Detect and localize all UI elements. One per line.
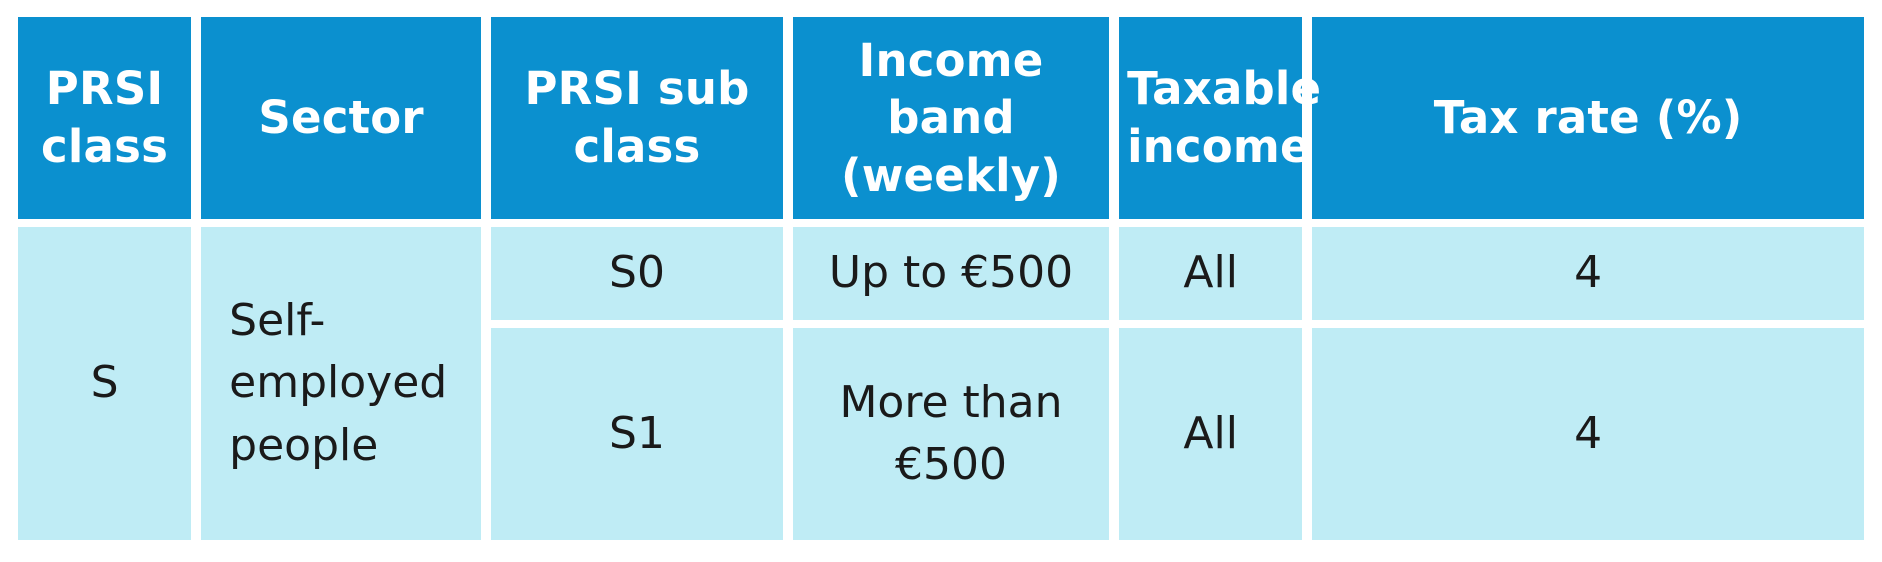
- cell-taxable-income: All: [1119, 227, 1302, 320]
- column-header-prsi-class: PRSI class: [18, 17, 191, 219]
- cell-income-band: Up to €500: [793, 227, 1109, 320]
- table-header: PRSI class Sector PRSI sub class Income …: [18, 17, 1864, 219]
- column-header-prsi-sub-class: PRSI sub class: [491, 17, 783, 219]
- cell-tax-rate: 4: [1312, 328, 1864, 540]
- cell-sub-class: S0: [491, 227, 783, 320]
- cell-sub-class: S1: [491, 328, 783, 540]
- prsi-table-container: PRSI class Sector PRSI sub class Income …: [18, 17, 1864, 540]
- column-header-tax-rate: Tax rate (%): [1312, 17, 1864, 219]
- cell-taxable-income: All: [1119, 328, 1302, 540]
- cell-sector-merged: Self-employed people: [201, 227, 481, 540]
- column-header-sector: Sector: [201, 17, 481, 219]
- table-body: S Self-employed people S0 Up to €500 All…: [18, 227, 1864, 540]
- cell-prsi-class-merged: S: [18, 227, 191, 540]
- table-row: S Self-employed people S0 Up to €500 All…: [18, 227, 1864, 320]
- header-row: PRSI class Sector PRSI sub class Income …: [18, 17, 1864, 219]
- prsi-class-s-table: PRSI class Sector PRSI sub class Income …: [8, 9, 1874, 548]
- column-header-taxable-income: Taxable income: [1119, 17, 1302, 219]
- cell-tax-rate: 4: [1312, 227, 1864, 320]
- cell-income-band: More than €500: [793, 328, 1109, 540]
- column-header-income-band: Income band (weekly): [793, 17, 1109, 219]
